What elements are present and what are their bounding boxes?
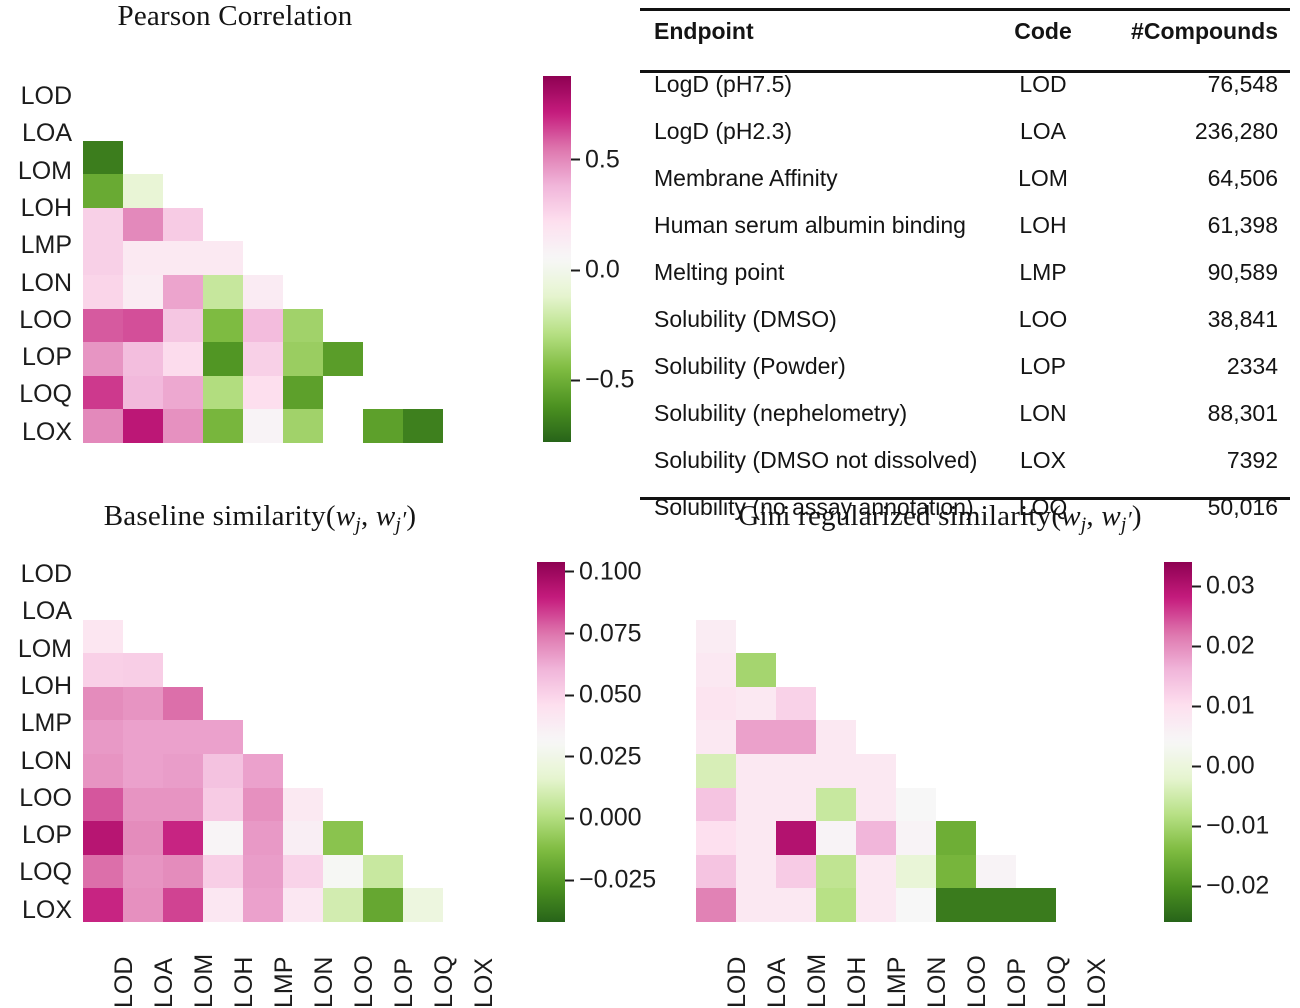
- heatmap-cell: [243, 687, 283, 721]
- y-tick-label: LOQ: [19, 860, 72, 885]
- cell-code: LOX: [983, 437, 1103, 484]
- heatmap-cell: [323, 888, 363, 922]
- heatmap-cell: [163, 342, 203, 376]
- heatmap-cell: [83, 342, 123, 376]
- cell-compounds: 7392: [1103, 437, 1290, 484]
- heatmap-cell: [736, 720, 776, 754]
- heatmap-cell: [123, 821, 163, 855]
- heatmap-cell: [123, 309, 163, 343]
- heatmap-cell: [696, 687, 736, 721]
- baseline-y-axis-labels: LODLOALOMLOHLMPLONLOOLOPLOQLOX: [0, 562, 72, 918]
- heatmap-cell: [363, 275, 403, 309]
- heatmap-cell: [83, 788, 123, 822]
- heatmap-cell: [123, 788, 163, 822]
- table-top-rule: [640, 8, 1290, 11]
- heatmap-cell: [163, 653, 203, 687]
- heatmap-cell: [1056, 586, 1096, 620]
- heatmap-cell: [363, 208, 403, 242]
- heatmap-cell: [243, 821, 283, 855]
- y-tick-label: LOQ: [19, 382, 72, 407]
- colorbar-tick: −0.5: [571, 366, 634, 395]
- heatmap-cell: [323, 107, 363, 141]
- heatmap-cell: [816, 754, 856, 788]
- heatmap-cell: [936, 754, 976, 788]
- heatmap-cell: [776, 754, 816, 788]
- table-row: LogD (pH7.5)LOD76,548: [640, 57, 1290, 108]
- heatmap-cell: [283, 888, 323, 922]
- heatmap-cell: [203, 586, 243, 620]
- heatmap-cell: [696, 788, 736, 822]
- heatmap-cell: [203, 653, 243, 687]
- gini-colorbar: 0.030.020.010.00−0.01−0.02: [1164, 562, 1192, 922]
- heatmap-cell: [283, 208, 323, 242]
- heatmap-cell: [1056, 788, 1096, 822]
- heatmap-cell: [1016, 720, 1056, 754]
- table-row: LogD (pH2.3)LOA236,280: [640, 108, 1290, 155]
- heatmap-cell: [403, 687, 443, 721]
- heatmap-cell: [403, 141, 443, 175]
- heatmap-cell: [123, 376, 163, 410]
- heatmap-cell: [163, 107, 203, 141]
- heatmap-cell: [203, 821, 243, 855]
- heatmap-cell: [163, 174, 203, 208]
- cell-compounds: 61,398: [1103, 202, 1290, 249]
- heatmap-cell: [203, 687, 243, 721]
- heatmap-cell: [203, 788, 243, 822]
- baseline-title: Baseline similarity(wj, wj′): [0, 500, 520, 537]
- heatmap-cell: [243, 586, 283, 620]
- heatmap-cell: [243, 342, 283, 376]
- heatmap-cell: [163, 687, 203, 721]
- x-tick-label: LOQ: [1043, 955, 1072, 1008]
- heatmap-cell: [896, 653, 936, 687]
- x-tick-label: LOD: [110, 957, 139, 1008]
- colorbar-tick-label: 0.050: [579, 681, 642, 710]
- heatmap-cell: [856, 788, 896, 822]
- colorbar-tick: 0.100: [565, 557, 642, 586]
- x-tick-label: LOO: [350, 955, 379, 1008]
- heatmap-cell: [403, 754, 443, 788]
- heatmap-cell: [323, 653, 363, 687]
- heatmap-cell: [363, 309, 403, 343]
- heatmap-cell: [443, 620, 483, 654]
- heatmap-cell: [203, 409, 243, 443]
- colorbar-tick-mark: [571, 269, 580, 271]
- heatmap-cell: [323, 821, 363, 855]
- colorbar-tick-label: 0.02: [1206, 632, 1255, 661]
- cell-code: LOP: [983, 343, 1103, 390]
- colorbar-tick-label: 0.0: [585, 256, 620, 285]
- heatmap-cell: [83, 855, 123, 889]
- heatmap-cell: [83, 821, 123, 855]
- heatmap-cell: [443, 687, 483, 721]
- heatmap-cell: [323, 275, 363, 309]
- heatmap-cell: [323, 174, 363, 208]
- cell-code: LOD: [983, 57, 1103, 108]
- heatmap-cell: [203, 275, 243, 309]
- heatmap-cell: [776, 653, 816, 687]
- heatmap-cell: [323, 141, 363, 175]
- heatmap-cell: [243, 754, 283, 788]
- colorbar-tick-mark: [565, 756, 574, 758]
- baseline-heatmap: [83, 586, 483, 922]
- heatmap-cell: [123, 141, 163, 175]
- heatmap-cell: [736, 788, 776, 822]
- heatmap-cell: [443, 208, 483, 242]
- pearson-correlation-panel: Pearson Correlation LODLOALOMLOHLMPLONLO…: [0, 0, 640, 500]
- colorbar-tick: 0.03: [1192, 572, 1255, 601]
- cell-code: LOA: [983, 108, 1103, 155]
- heatmap-cell: [1016, 888, 1056, 922]
- heatmap-cell: [443, 107, 483, 141]
- heatmap-cell: [443, 754, 483, 788]
- heatmap-cell: [1056, 687, 1096, 721]
- colorbar-tick-mark: [571, 379, 580, 381]
- heatmap-cell: [83, 888, 123, 922]
- heatmap-cell: [403, 586, 443, 620]
- y-tick-label: LOP: [22, 345, 72, 370]
- heatmap-cell: [123, 653, 163, 687]
- heatmap-cell: [776, 620, 816, 654]
- heatmap-cell: [123, 342, 163, 376]
- cell-compounds: 76,548: [1103, 57, 1290, 108]
- heatmap-cell: [856, 620, 896, 654]
- colorbar-tick: 0.0: [571, 256, 620, 285]
- heatmap-cell: [1016, 653, 1056, 687]
- heatmap-cell: [776, 888, 816, 922]
- heatmap-cell: [163, 855, 203, 889]
- heatmap-cell: [776, 788, 816, 822]
- heatmap-cell: [736, 653, 776, 687]
- heatmap-cell: [1016, 821, 1056, 855]
- heatmap-cell: [83, 687, 123, 721]
- heatmap-cell: [163, 141, 203, 175]
- heatmap-cell: [403, 342, 443, 376]
- heatmap-cell: [896, 620, 936, 654]
- heatmap-cell: [243, 275, 283, 309]
- heatmap-cell: [403, 275, 443, 309]
- heatmap-cell: [936, 821, 976, 855]
- heatmap-cell: [816, 720, 856, 754]
- table-row: Melting pointLMP90,589: [640, 249, 1290, 296]
- heatmap-cell: [123, 409, 163, 443]
- heatmap-cell: [403, 821, 443, 855]
- heatmap-cell: [83, 720, 123, 754]
- heatmap-cell: [403, 855, 443, 889]
- y-tick-label: LOM: [18, 159, 72, 184]
- heatmap-cell: [203, 342, 243, 376]
- heatmap-cell: [736, 821, 776, 855]
- heatmap-cell: [403, 241, 443, 275]
- column-header-code: Code: [983, 8, 1103, 57]
- colorbar-tick-mark: [1192, 585, 1201, 587]
- heatmap-cell: [1016, 855, 1056, 889]
- heatmap-cell: [283, 376, 323, 410]
- colorbar-tick-label: 0.5: [585, 145, 620, 174]
- heatmap-cell: [443, 653, 483, 687]
- heatmap-cell: [123, 208, 163, 242]
- heatmap-cell: [976, 586, 1016, 620]
- pearson-title: Pearson Correlation: [0, 0, 470, 33]
- heatmap-cell: [403, 888, 443, 922]
- heatmap-cell: [696, 720, 736, 754]
- heatmap-cell: [936, 586, 976, 620]
- heatmap-cell: [123, 687, 163, 721]
- cell-code: LOM: [983, 155, 1103, 202]
- pearson-colorbar-gradient: [543, 76, 571, 442]
- heatmap-cell: [363, 620, 403, 654]
- heatmap-cell: [243, 409, 283, 443]
- heatmap-cell: [283, 174, 323, 208]
- colorbar-tick-label: 0.00: [1206, 752, 1255, 781]
- heatmap-cell: [1056, 821, 1096, 855]
- column-header-compounds: #Compounds: [1103, 8, 1290, 57]
- heatmap-cell: [696, 754, 736, 788]
- heatmap-cell: [896, 788, 936, 822]
- heatmap-cell: [696, 620, 736, 654]
- colorbar-tick-label: 0.100: [579, 557, 642, 586]
- table-row: Solubility (nephelometry)LON88,301: [640, 390, 1290, 437]
- heatmap-cell: [83, 208, 123, 242]
- heatmap-cell: [123, 720, 163, 754]
- table-body: LogD (pH7.5)LOD76,548LogD (pH2.3)LOA236,…: [640, 57, 1290, 531]
- gini-heatmap: [696, 586, 1096, 922]
- heatmap-cell: [243, 620, 283, 654]
- heatmap-cell: [403, 620, 443, 654]
- heatmap-cell: [203, 107, 243, 141]
- colorbar-tick-mark: [565, 633, 574, 635]
- heatmap-cell: [443, 409, 483, 443]
- heatmap-cell: [283, 241, 323, 275]
- heatmap-cell: [83, 653, 123, 687]
- heatmap-cell: [936, 788, 976, 822]
- y-tick-label: LOX: [22, 898, 72, 923]
- heatmap-cell: [403, 376, 443, 410]
- heatmap-cell: [856, 888, 896, 922]
- table-header-row: Endpoint Code #Compounds: [640, 8, 1290, 57]
- heatmap-cell: [243, 174, 283, 208]
- colorbar-tick: 0.075: [565, 619, 642, 648]
- heatmap-cell: [203, 241, 243, 275]
- x-tick-label: LMP: [270, 957, 299, 1008]
- heatmap-cell: [856, 687, 896, 721]
- colorbar-tick-label: −0.01: [1206, 812, 1269, 841]
- heatmap-cell: [363, 409, 403, 443]
- heatmap-cell: [443, 141, 483, 175]
- heatmap-cell: [163, 241, 203, 275]
- gini-title-text: Gini regularized similarity: [738, 500, 1051, 532]
- heatmap-cell: [936, 653, 976, 687]
- heatmap-cell: [856, 720, 896, 754]
- pearson-y-axis-labels: LODLOALOMLOHLMPLONLOOLOPLOQLOX: [0, 84, 72, 440]
- heatmap-cell: [776, 855, 816, 889]
- heatmap-cell: [83, 586, 123, 620]
- heatmap-cell: [363, 788, 403, 822]
- heatmap-cell: [283, 720, 323, 754]
- heatmap-cell: [243, 376, 283, 410]
- heatmap-cell: [283, 141, 323, 175]
- heatmap-cell: [83, 275, 123, 309]
- colorbar-tick-mark: [565, 879, 574, 881]
- heatmap-cell: [163, 208, 203, 242]
- heatmap-cell: [696, 855, 736, 889]
- heatmap-cell: [83, 174, 123, 208]
- x-tick-label: LOH: [230, 957, 259, 1008]
- heatmap-cell: [736, 586, 776, 620]
- heatmap-cell: [1016, 788, 1056, 822]
- heatmap-cell: [243, 241, 283, 275]
- heatmap-cell: [443, 888, 483, 922]
- heatmap-cell: [443, 720, 483, 754]
- heatmap-cell: [163, 888, 203, 922]
- pearson-colorbar: 0.50.0−0.5: [543, 76, 571, 442]
- x-tick-label: LOP: [390, 958, 419, 1008]
- heatmap-cell: [363, 376, 403, 410]
- heatmap-cell: [816, 888, 856, 922]
- heatmap-cell: [976, 821, 1016, 855]
- colorbar-tick-mark: [565, 694, 574, 696]
- y-tick-label: LOP: [22, 823, 72, 848]
- heatmap-cell: [1016, 620, 1056, 654]
- heatmap-cell: [243, 653, 283, 687]
- table-row: Human serum albumin bindingLOH61,398: [640, 202, 1290, 249]
- table-row: Membrane AffinityLOM64,506: [640, 155, 1290, 202]
- heatmap-cell: [203, 855, 243, 889]
- heatmap-cell: [283, 409, 323, 443]
- y-tick-label: LMP: [21, 233, 72, 258]
- table-row: Solubility (Powder)LOP2334: [640, 343, 1290, 390]
- heatmap-cell: [443, 376, 483, 410]
- heatmap-cell: [403, 788, 443, 822]
- pearson-colorbar-ticks: 0.50.0−0.5: [571, 76, 711, 442]
- heatmap-cell: [283, 754, 323, 788]
- heatmap-cell: [83, 309, 123, 343]
- heatmap-cell: [203, 720, 243, 754]
- colorbar-tick-mark: [571, 159, 580, 161]
- heatmap-cell: [163, 309, 203, 343]
- heatmap-cell: [443, 309, 483, 343]
- gini-colorbar-ticks: 0.030.020.010.00−0.01−0.02: [1192, 562, 1300, 922]
- heatmap-cell: [323, 376, 363, 410]
- heatmap-cell: [936, 888, 976, 922]
- heatmap-cell: [856, 754, 896, 788]
- x-tick-label: LOX: [1083, 958, 1112, 1008]
- heatmap-cell: [363, 653, 403, 687]
- heatmap-cell: [403, 720, 443, 754]
- cell-compounds: 38,841: [1103, 296, 1290, 343]
- heatmap-cell: [1056, 720, 1096, 754]
- heatmap-cell: [936, 620, 976, 654]
- heatmap-cell: [323, 788, 363, 822]
- heatmap-cell: [816, 687, 856, 721]
- y-tick-label: LOD: [21, 84, 72, 109]
- y-tick-label: LOM: [18, 637, 72, 662]
- heatmap-cell: [163, 275, 203, 309]
- column-header-endpoint: Endpoint: [640, 8, 983, 57]
- heatmap-cell: [163, 720, 203, 754]
- heatmap-cell: [936, 687, 976, 721]
- heatmap-cell: [363, 855, 403, 889]
- x-tick-label: LON: [923, 957, 952, 1008]
- heatmap-cell: [736, 754, 776, 788]
- colorbar-tick: 0.025: [565, 742, 642, 771]
- heatmap-cell: [443, 275, 483, 309]
- heatmap-cell: [203, 141, 243, 175]
- colorbar-tick-label: 0.075: [579, 619, 642, 648]
- cell-code: LMP: [983, 249, 1103, 296]
- heatmap-cell: [856, 653, 896, 687]
- heatmap-cell: [243, 855, 283, 889]
- cell-code: LOO: [983, 296, 1103, 343]
- heatmap-cell: [1056, 855, 1096, 889]
- heatmap-cell: [123, 174, 163, 208]
- heatmap-cell: [203, 208, 243, 242]
- heatmap-cell: [243, 208, 283, 242]
- x-tick-label: LON: [310, 957, 339, 1008]
- heatmap-cell: [736, 888, 776, 922]
- heatmap-cell: [323, 687, 363, 721]
- colorbar-tick: −0.02: [1192, 872, 1269, 901]
- heatmap-cell: [283, 653, 323, 687]
- heatmap-cell: [443, 821, 483, 855]
- heatmap-cell: [1056, 653, 1096, 687]
- cell-code: LON: [983, 390, 1103, 437]
- heatmap-cell: [123, 855, 163, 889]
- heatmap-cell: [1016, 586, 1056, 620]
- heatmap-cell: [976, 687, 1016, 721]
- x-tick-label: LOP: [1003, 958, 1032, 1008]
- table-header-rule: [640, 70, 1290, 73]
- y-tick-label: LOO: [19, 786, 72, 811]
- heatmap-cell: [323, 754, 363, 788]
- heatmap-cell: [856, 821, 896, 855]
- heatmap-cell: [696, 586, 736, 620]
- heatmap-cell: [363, 720, 403, 754]
- baseline-similarity-panel: Baseline similarity(wj, wj′) LODLOALOMLO…: [0, 500, 660, 1004]
- gini-title: Gini regularized similarity(wj, wj′): [640, 500, 1240, 537]
- heatmap-cell: [123, 620, 163, 654]
- y-tick-label: LON: [21, 749, 72, 774]
- heatmap-cell: [283, 275, 323, 309]
- baseline-colorbar: 0.1000.0750.0500.0250.000−0.025: [537, 562, 565, 922]
- heatmap-cell: [403, 107, 443, 141]
- y-tick-label: LOA: [22, 599, 72, 624]
- colorbar-tick: −0.01: [1192, 812, 1269, 841]
- heatmap-cell: [443, 586, 483, 620]
- colorbar-tick-label: 0.03: [1206, 572, 1255, 601]
- heatmap-cell: [856, 855, 896, 889]
- heatmap-cell: [1056, 888, 1096, 922]
- heatmap-cell: [203, 309, 243, 343]
- colorbar-tick: 0.000: [565, 804, 642, 833]
- heatmap-cell: [323, 342, 363, 376]
- heatmap-cell: [816, 620, 856, 654]
- heatmap-cell: [896, 687, 936, 721]
- colorbar-tick: 0.00: [1192, 752, 1255, 781]
- heatmap-cell: [443, 174, 483, 208]
- heatmap-cell: [363, 754, 403, 788]
- heatmap-cell: [896, 754, 936, 788]
- heatmap-cell: [163, 376, 203, 410]
- heatmap-cell: [736, 855, 776, 889]
- colorbar-tick-label: 0.000: [579, 804, 642, 833]
- cell-compounds: 2334: [1103, 343, 1290, 390]
- heatmap-cell: [163, 788, 203, 822]
- heatmap-cell: [896, 720, 936, 754]
- heatmap-cell: [403, 174, 443, 208]
- x-tick-label: LOX: [470, 958, 499, 1008]
- colorbar-tick: 0.02: [1192, 632, 1255, 661]
